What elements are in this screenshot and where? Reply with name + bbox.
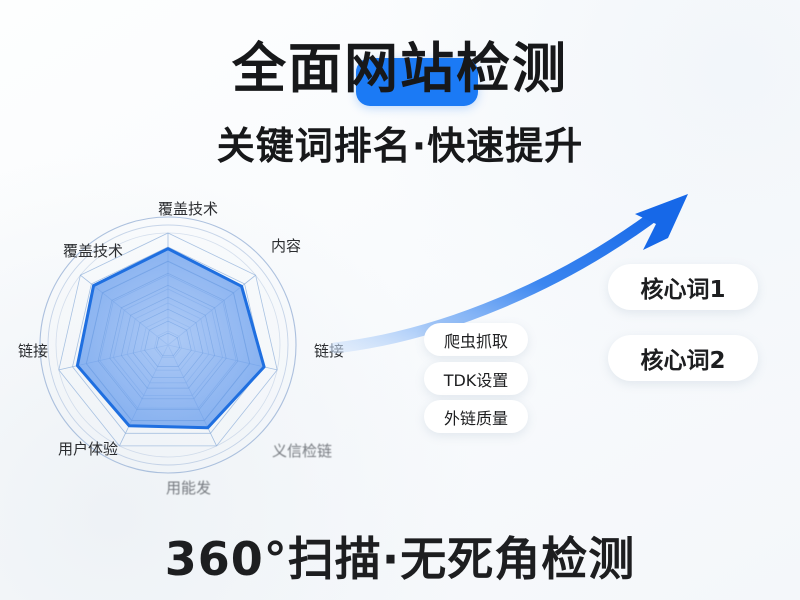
keyword-pill-label: 核心词1 bbox=[640, 270, 725, 304]
feature-pill-backlink[interactable]: 外链质量 bbox=[424, 400, 528, 433]
feature-pill-label: 爬虫抓取 bbox=[444, 328, 508, 352]
keyword-pill-label: 核心词2 bbox=[640, 341, 725, 375]
page-title: 全面网站检测 bbox=[232, 34, 568, 104]
feature-pill-crawl[interactable]: 爬虫抓取 bbox=[424, 323, 528, 356]
page-subtitle: 关键词排名·快速提升 bbox=[0, 115, 800, 170]
radar-label-top: 覆盖技术 bbox=[158, 198, 218, 219]
radar-label-ux: 用户体验 bbox=[58, 438, 118, 459]
keyword-pill-2[interactable]: 核心词2 bbox=[608, 335, 758, 381]
title-block: 全面网站检测 bbox=[0, 34, 800, 104]
radar-label-coverage-left: 覆盖技术 bbox=[63, 240, 123, 261]
footer-tagline: 360°扫描·无死角检测 bbox=[0, 523, 800, 589]
radar-label-bottom: 用能发 bbox=[166, 477, 211, 498]
poster-canvas: 全面网站检测 关键词排名·快速提升 bbox=[0, 0, 800, 600]
radar-label-link-left: 链接 bbox=[18, 340, 48, 361]
feature-pill-label: TDK设置 bbox=[444, 367, 509, 391]
feature-pill-tdk[interactable]: TDK设置 bbox=[424, 362, 528, 395]
keyword-pill-1[interactable]: 核心词1 bbox=[608, 264, 758, 310]
feature-pill-label: 外链质量 bbox=[444, 405, 508, 429]
radar-label-lower-right: 义信检链 bbox=[272, 440, 332, 461]
